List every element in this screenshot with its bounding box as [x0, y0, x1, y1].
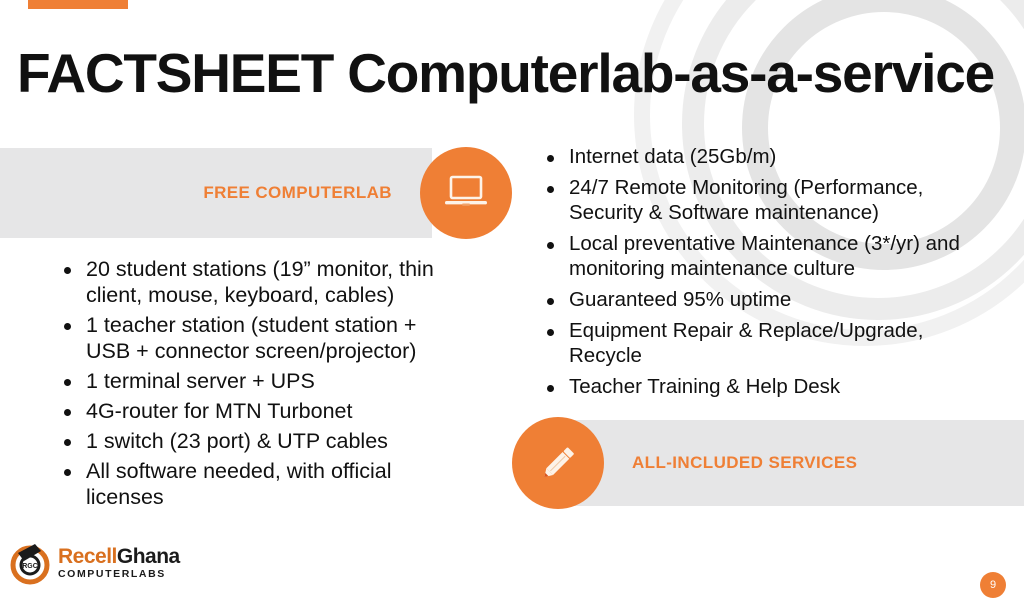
logo-title-part1: Recell — [58, 545, 117, 568]
list-item: 24/7 Remote Monitoring (Performance, Sec… — [545, 175, 985, 225]
list-item: Internet data (25Gb/m) — [545, 144, 985, 169]
pencil-icon-badge — [512, 417, 604, 509]
page-number-badge: 9 — [980, 572, 1006, 598]
list-item: 1 terminal server + UPS — [62, 368, 462, 394]
recellghana-logo-text: RecellGhana COMPUTERLABS — [58, 546, 180, 580]
free-computerlab-label: FREE COMPUTERLAB — [203, 183, 392, 203]
slide-canvas: FACTSHEET Computerlab-as-a-service FREE … — [0, 0, 1024, 608]
list-item: Teacher Training & Help Desk — [545, 374, 985, 399]
list-item: All software needed, with official licen… — [62, 458, 462, 510]
page-title: FACTSHEET Computerlab-as-a-service — [17, 42, 994, 104]
logo-title-part2: Ghana — [117, 545, 180, 568]
all-included-services-band: ALL-INCLUDED SERVICES — [556, 420, 1024, 506]
list-item: 20 student stations (19” monitor, thin c… — [62, 256, 462, 308]
laptop-icon-badge — [420, 147, 512, 239]
top-accent-bar — [28, 0, 128, 9]
recellghana-logo-mark-icon: RGC — [8, 539, 56, 587]
laptop-icon — [442, 173, 490, 213]
svg-text:RGC: RGC — [22, 563, 38, 570]
list-item: Local preventative Maintenance (3*/yr) a… — [545, 231, 985, 281]
logo-title: RecellGhana — [58, 546, 180, 567]
recellghana-logo: RGC RecellGhana COMPUTERLABS — [8, 534, 188, 592]
logo-subtitle: COMPUTERLABS — [58, 569, 180, 580]
list-item: 1 switch (23 port) & UTP cables — [62, 428, 462, 454]
list-item: 1 teacher station (student station + USB… — [62, 312, 462, 364]
list-item: 4G-router for MTN Turbonet — [62, 398, 462, 424]
all-included-services-label: ALL-INCLUDED SERVICES — [632, 453, 857, 473]
free-computerlab-band: FREE COMPUTERLAB — [0, 148, 432, 238]
list-item: Guaranteed 95% uptime — [545, 287, 985, 312]
pencil-icon — [534, 439, 582, 487]
list-item: Equipment Repair & Replace/Upgrade, Recy… — [545, 318, 985, 368]
free-computerlab-list: 20 student stations (19” monitor, thin c… — [62, 256, 462, 514]
all-included-services-list: Internet data (25Gb/m) 24/7 Remote Monit… — [545, 144, 985, 405]
